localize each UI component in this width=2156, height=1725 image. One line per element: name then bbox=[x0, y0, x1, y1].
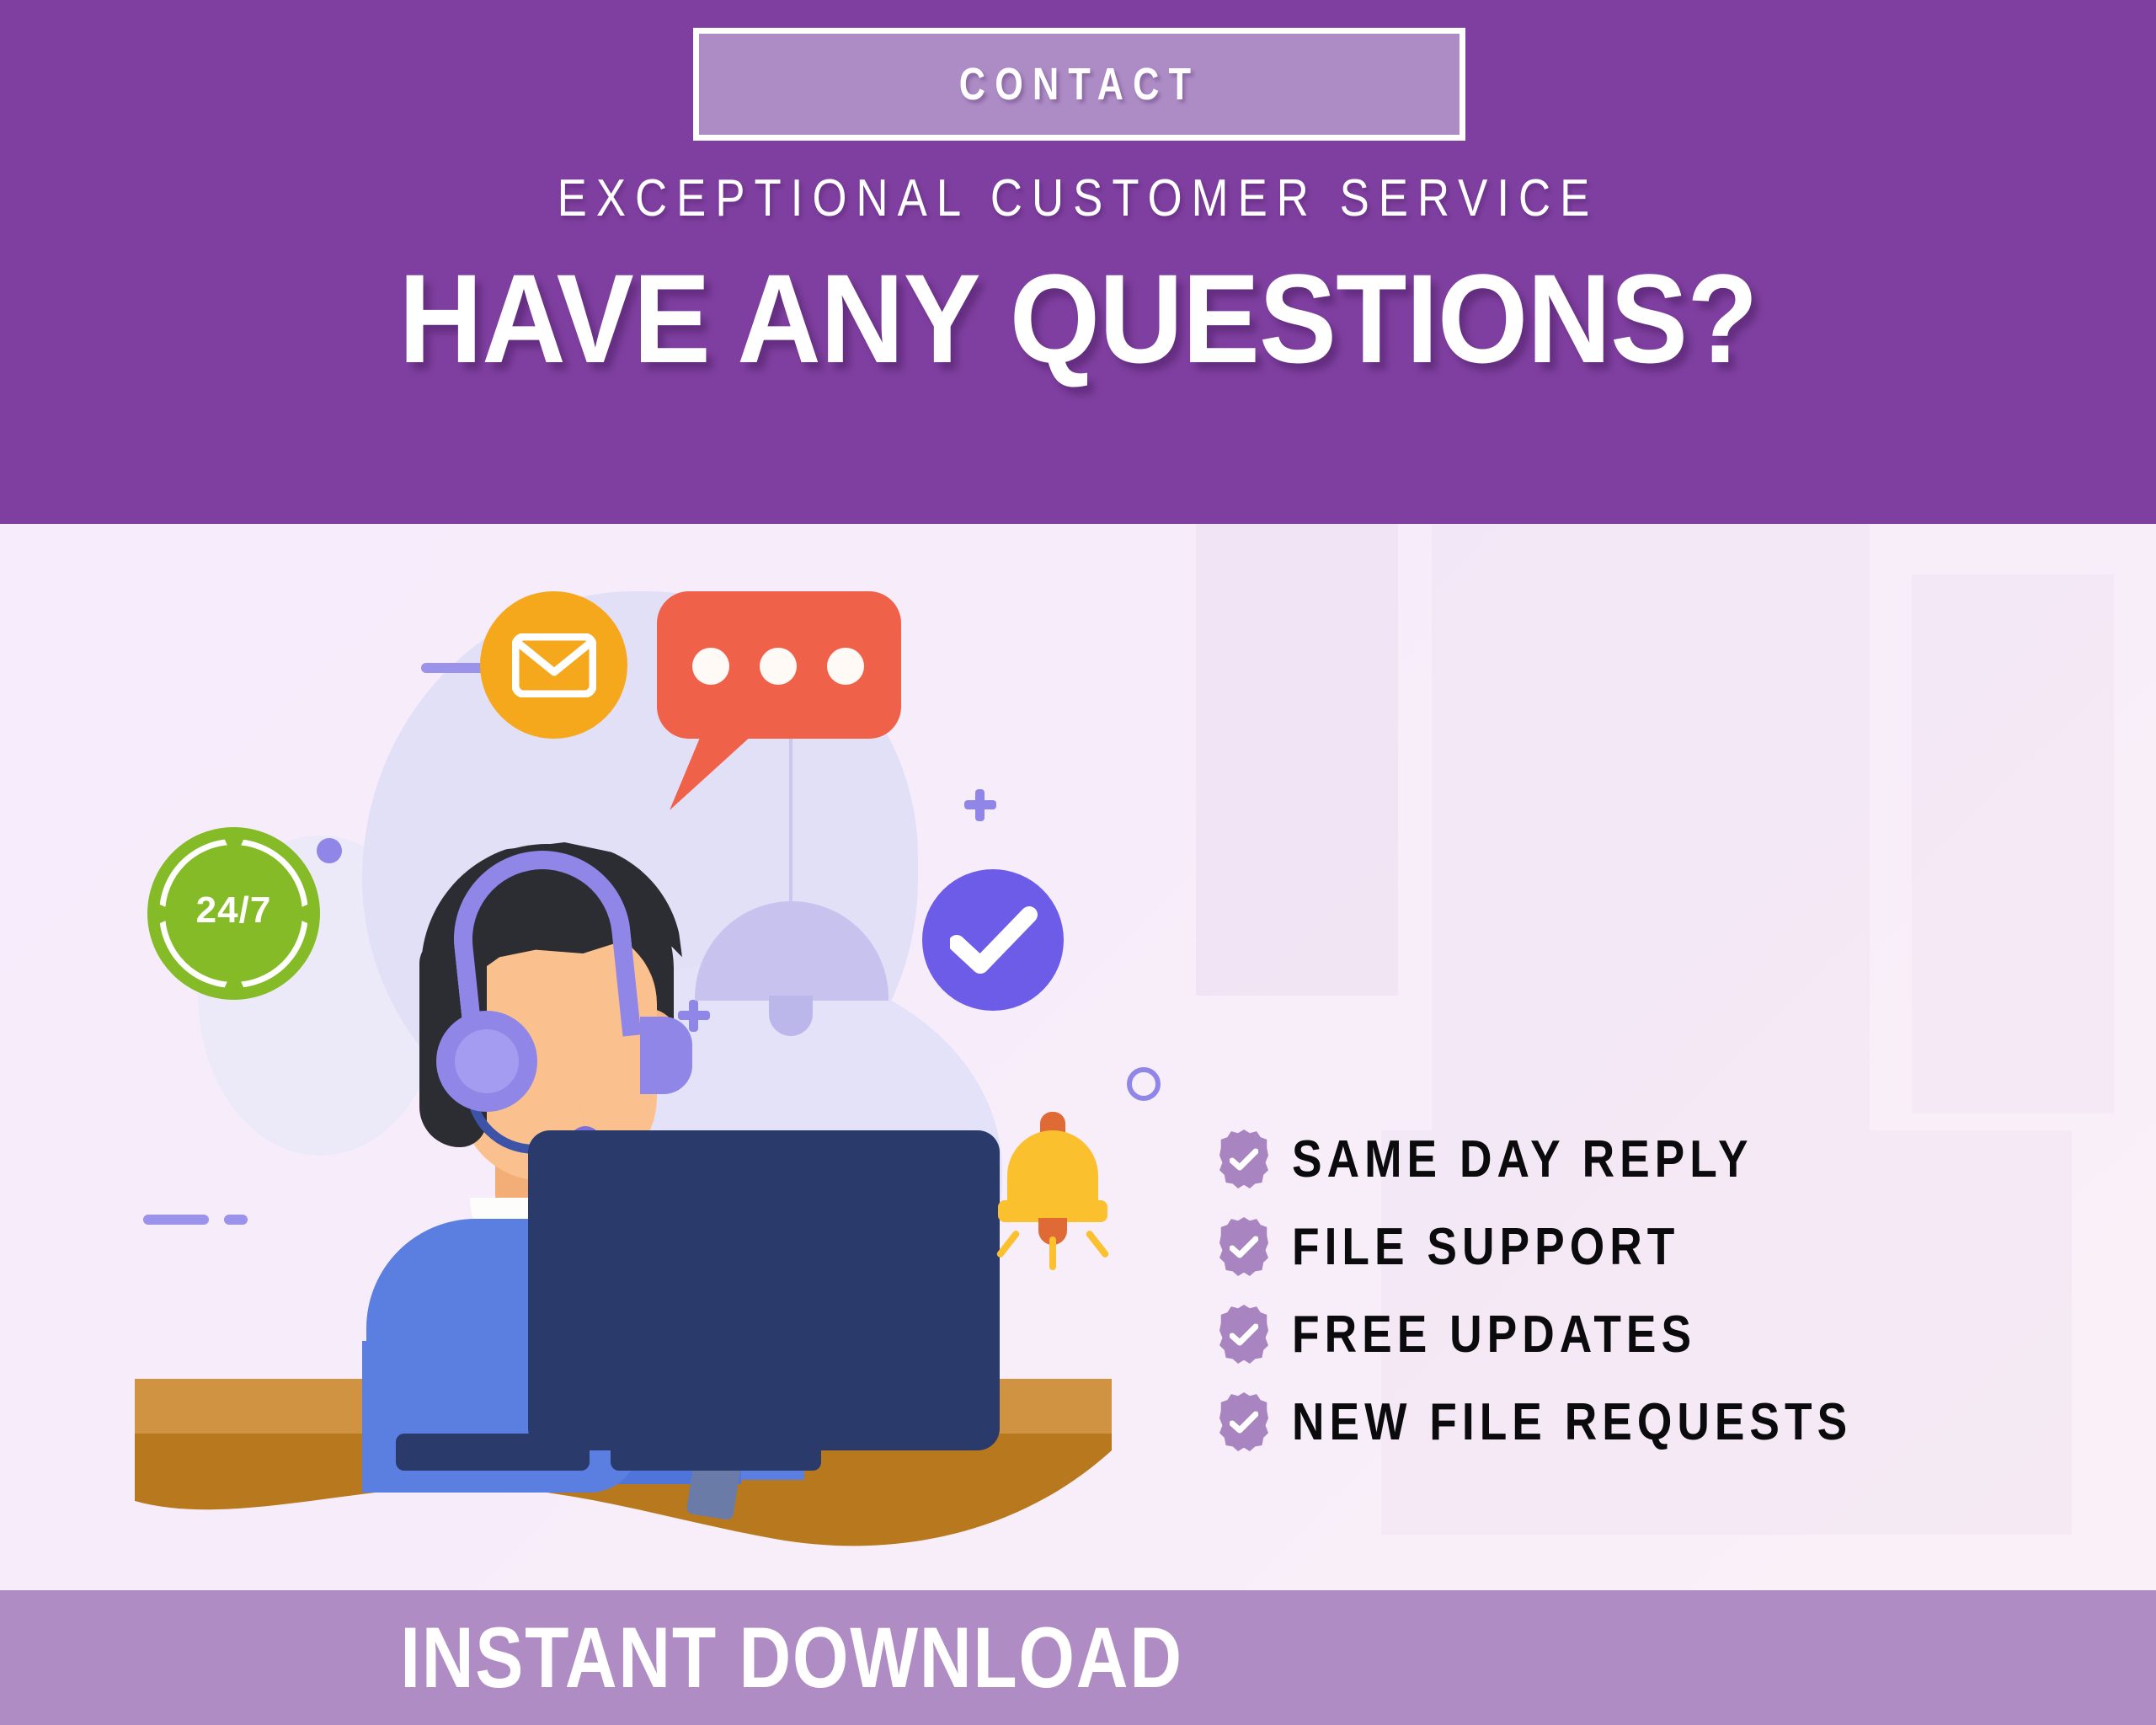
footer-bar: INSTANT DOWNLOAD bbox=[0, 1590, 2156, 1725]
feature-label: FILE SUPPORT bbox=[1292, 1217, 1679, 1277]
headset-earcup-inner bbox=[455, 1029, 519, 1093]
feature-list: SAME DAY REPLY FILE SUPPORT bbox=[1219, 1129, 1943, 1479]
main-section: 24/7 bbox=[0, 524, 2156, 1590]
promo-banner: CONTACT EXCEPTIONAL CUSTOMER SERVICE HAV… bbox=[0, 0, 2156, 1725]
envelope-icon bbox=[480, 591, 627, 739]
customer-support-illustration: 24/7 bbox=[118, 558, 1145, 1551]
check-badge-icon bbox=[1219, 1305, 1268, 1364]
feature-item-same-day-reply: SAME DAY REPLY bbox=[1219, 1129, 1943, 1189]
dash-decoration bbox=[224, 1215, 248, 1225]
page-title: HAVE ANY QUESTIONS? bbox=[86, 253, 2069, 386]
feature-label: NEW FILE REQUESTS bbox=[1292, 1392, 1852, 1452]
bell-ring-line bbox=[995, 1230, 1021, 1259]
feature-item-file-support: FILE SUPPORT bbox=[1219, 1216, 1943, 1277]
twenty-four-seven-badge: 24/7 bbox=[147, 827, 320, 1000]
typing-dot bbox=[692, 648, 729, 685]
check-badge-icon bbox=[1219, 1392, 1268, 1451]
headset-earcup-right bbox=[640, 1017, 692, 1094]
check-badge-icon bbox=[1219, 1217, 1268, 1276]
background-ghost-shape bbox=[1912, 574, 2114, 1114]
feature-item-free-updates: FREE UPDATES bbox=[1219, 1304, 1943, 1365]
background-ghost-shape bbox=[1432, 524, 1870, 1130]
plus-decoration bbox=[964, 789, 996, 821]
header-subtitle: EXCEPTIONAL CUSTOMER SERVICE bbox=[162, 168, 1994, 228]
contact-badge-label: CONTACT bbox=[958, 58, 1199, 110]
dot-decoration bbox=[317, 838, 342, 863]
feature-label: FREE UPDATES bbox=[1292, 1305, 1696, 1365]
clock-badge-label: 24/7 bbox=[147, 889, 320, 932]
background-ghost-shape bbox=[1196, 524, 1398, 996]
chat-bubble-icon bbox=[657, 591, 901, 739]
header-section: CONTACT EXCEPTIONAL CUSTOMER SERVICE HAV… bbox=[0, 0, 2156, 524]
check-badge-icon bbox=[1219, 1130, 1268, 1188]
monitor-screen bbox=[528, 1130, 1000, 1450]
bell-ring-line bbox=[1049, 1236, 1056, 1270]
instant-download-label: INSTANT DOWNLOAD bbox=[126, 1609, 1456, 1707]
ring-decoration bbox=[1127, 1067, 1161, 1101]
bell-ring-line bbox=[1085, 1230, 1110, 1259]
keyboard-right bbox=[611, 1434, 821, 1471]
check-circle-icon bbox=[922, 869, 1064, 1011]
dash-decoration bbox=[421, 663, 487, 673]
contact-badge: CONTACT bbox=[693, 28, 1465, 141]
feature-label: SAME DAY REPLY bbox=[1292, 1130, 1753, 1189]
notification-bell-icon bbox=[998, 1112, 1107, 1255]
typing-dot bbox=[760, 648, 797, 685]
feature-item-new-file-requests: NEW FILE REQUESTS bbox=[1219, 1391, 1943, 1452]
keyboard-left bbox=[396, 1434, 590, 1471]
typing-dot bbox=[827, 648, 864, 685]
dash-decoration bbox=[143, 1215, 209, 1225]
